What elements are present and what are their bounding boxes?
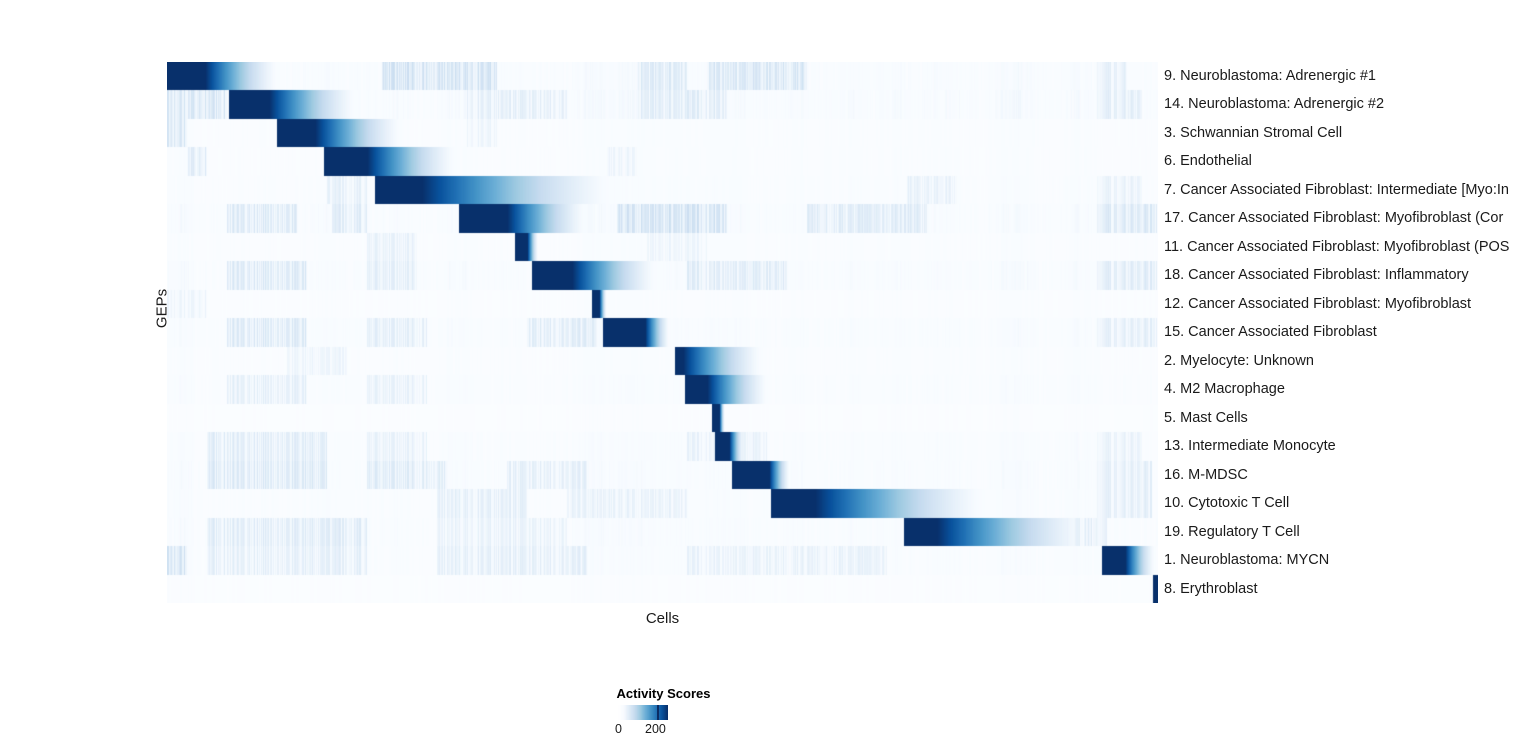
row-label: 2. Myelocyte: Unknown	[1164, 347, 1314, 375]
row-label: 17. Cancer Associated Fibroblast: Myofib…	[1164, 204, 1503, 232]
colorbar-legend: Activity Scores 0200	[560, 686, 790, 743]
row-label: 15. Cancer Associated Fibroblast	[1164, 318, 1377, 346]
colorbar-tick	[657, 705, 659, 720]
colorbar-gradient	[618, 705, 668, 720]
heatmap-plot	[167, 62, 1158, 603]
row-label: 9. Neuroblastoma: Adrenergic #1	[1164, 62, 1376, 90]
row-label: 14. Neuroblastoma: Adrenergic #2	[1164, 90, 1384, 118]
row-label: 16. M-MDSC	[1164, 461, 1248, 489]
colorbar-tick-label: 0	[615, 722, 622, 736]
legend-title: Activity Scores	[560, 686, 767, 701]
x-axis-title: Cells	[167, 610, 1158, 627]
colorbar-tick-label: 200	[645, 722, 666, 736]
row-label: 18. Cancer Associated Fibroblast: Inflam…	[1164, 261, 1469, 289]
row-label-list: 9. Neuroblastoma: Adrenergic #114. Neuro…	[1164, 62, 1540, 603]
row-label: 8. Erythroblast	[1164, 575, 1258, 603]
heatmap-figure: GEPs Cells 9. Neuroblastoma: Adrenergic …	[0, 0, 1540, 743]
colorbar	[618, 705, 668, 720]
row-label: 12. Cancer Associated Fibroblast: Myofib…	[1164, 290, 1471, 318]
row-label: 10. Cytotoxic T Cell	[1164, 489, 1289, 517]
row-label: 19. Regulatory T Cell	[1164, 518, 1300, 546]
row-label: 13. Intermediate Monocyte	[1164, 432, 1336, 460]
row-label: 7. Cancer Associated Fibroblast: Interme…	[1164, 176, 1509, 204]
row-label: 5. Mast Cells	[1164, 404, 1248, 432]
row-label: 6. Endothelial	[1164, 147, 1252, 175]
row-label: 3. Schwannian Stromal Cell	[1164, 119, 1342, 147]
row-label: 4. M2 Macrophage	[1164, 375, 1285, 403]
row-label: 1. Neuroblastoma: MYCN	[1164, 546, 1329, 574]
row-label: 11. Cancer Associated Fibroblast: Myofib…	[1164, 233, 1509, 261]
